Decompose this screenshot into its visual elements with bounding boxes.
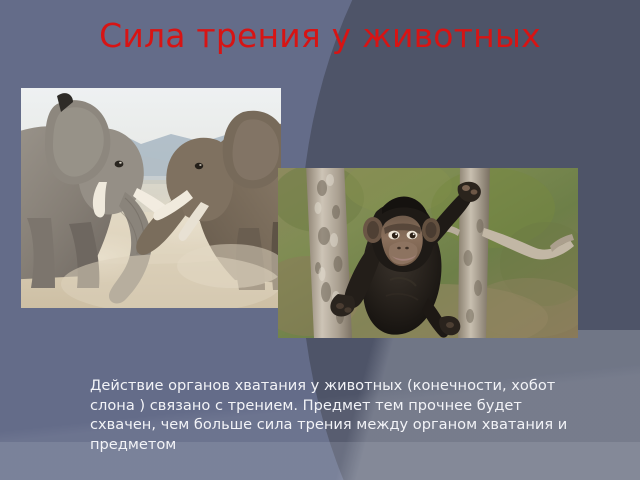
image-elephants (21, 88, 281, 308)
slide-body-text: Действие органов хватания у животных (ко… (90, 376, 572, 454)
image-chimpanzee (278, 168, 578, 338)
presentation-slide: Сила трения у животных (0, 0, 640, 480)
chimpanzee-illustration (278, 168, 578, 338)
elephants-illustration (21, 88, 281, 308)
slide-title: Сила трения у животных (60, 14, 580, 58)
